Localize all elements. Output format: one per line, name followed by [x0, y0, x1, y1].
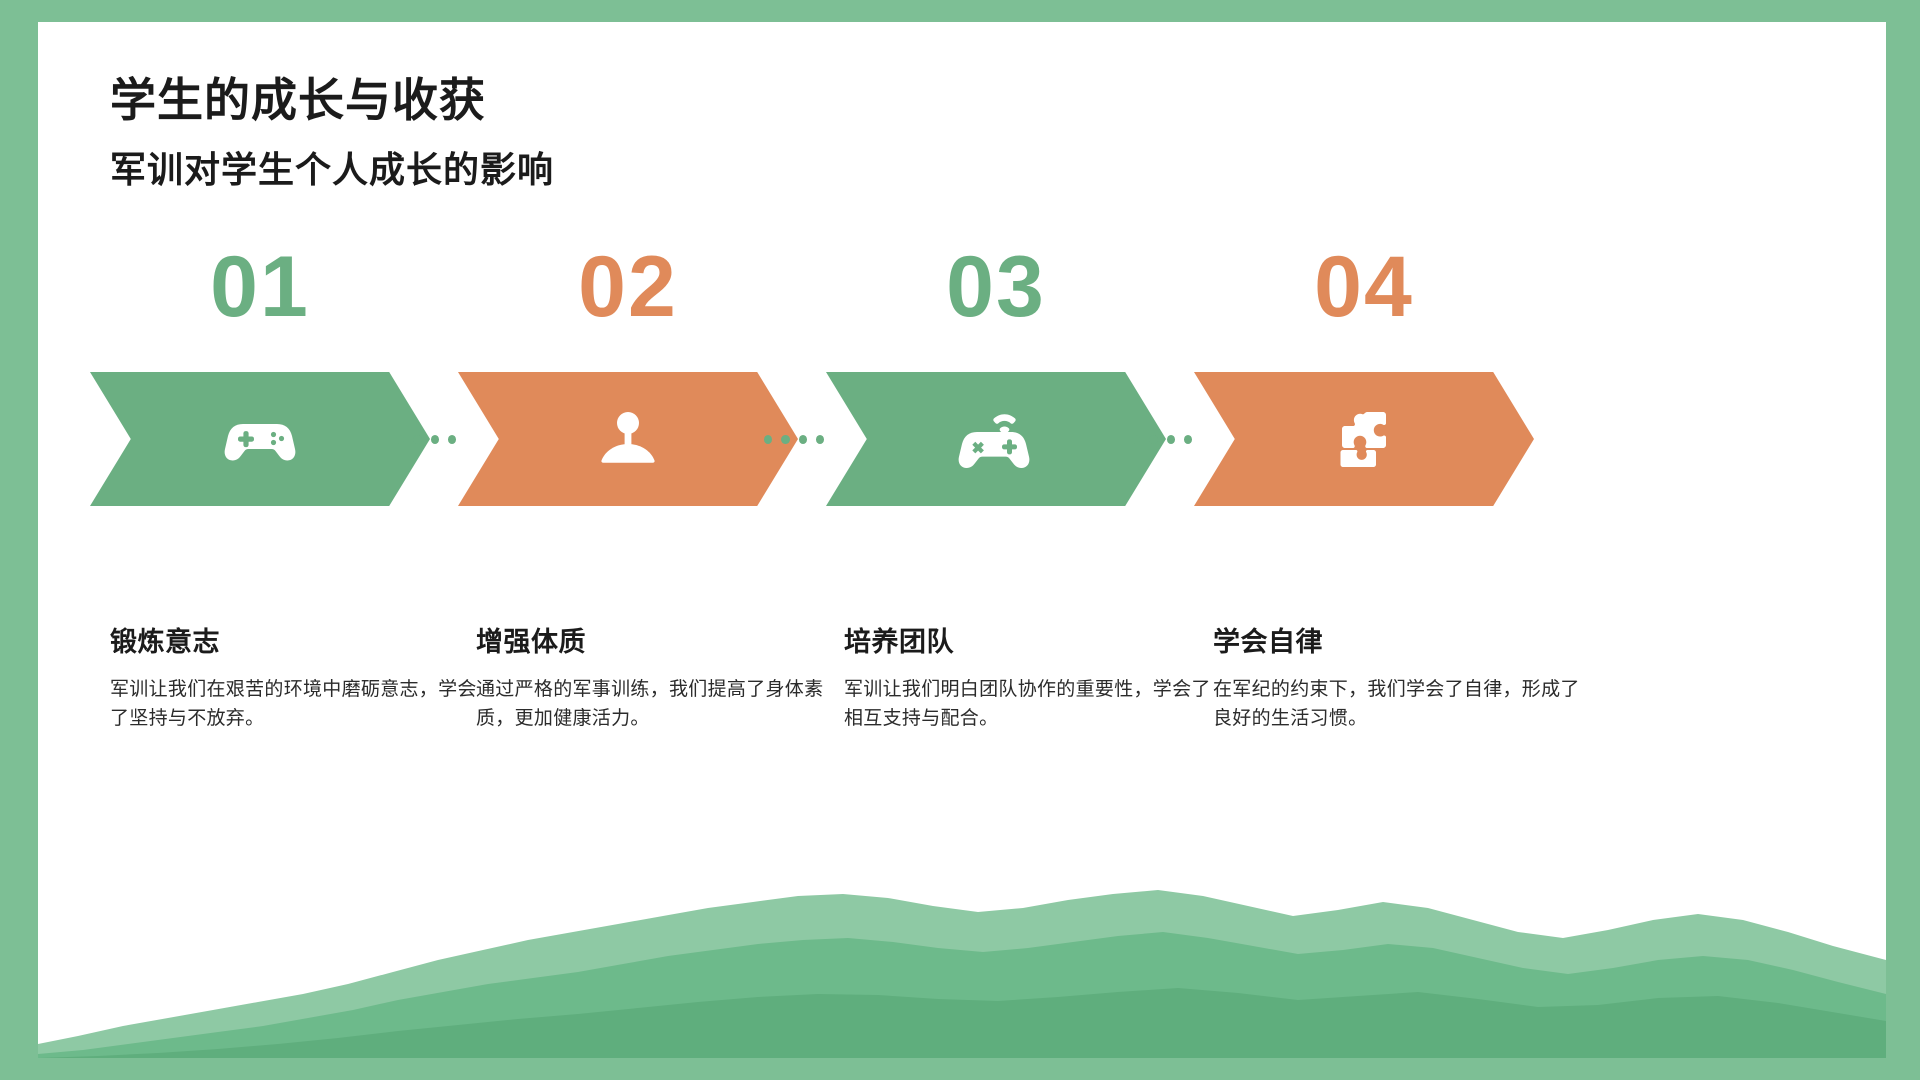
caption-description: 军训让我们在艰苦的环境中磨砺意志，学会了坚持与不放弃。 [110, 675, 480, 734]
connector-dot [1149, 435, 1157, 444]
connector-dot [431, 435, 439, 444]
connector-dot [396, 435, 404, 444]
slide-root: 学生的成长与收获 军训对学生个人成长的影响 01 [0, 0, 1920, 1080]
connector-dot [781, 435, 789, 444]
caption-description: 通过严格的军事训练，我们提高了身体素质，更加健康活力。 [476, 675, 846, 734]
caption-02: 增强体质 通过严格的军事训练，我们提高了身体素质，更加健康活力。 [476, 620, 846, 734]
chevron-shape [458, 372, 798, 506]
chevron-shape [90, 372, 430, 506]
step-number-02: 02 [508, 244, 748, 330]
caption-01: 锻炼意志 军训让我们在艰苦的环境中磨砺意志，学会了坚持与不放弃。 [110, 620, 480, 734]
connector-dot [799, 435, 807, 444]
header: 学生的成长与收获 军训对学生个人成长的影响 [110, 74, 554, 190]
step-chevron-03[interactable] [826, 372, 1166, 506]
step-number-01: 01 [140, 244, 380, 330]
connector-dots-2 [764, 372, 824, 506]
chevron-shape [826, 372, 1166, 506]
caption-description: 军训让我们明白团队协作的重要性，学会了相互支持与配合。 [844, 675, 1224, 734]
step-chevron-04[interactable] [1194, 372, 1534, 506]
caption-04: 学会自律 在军纪的约束下，我们学会了自律，形成了良好的生活习惯。 [1213, 620, 1583, 734]
caption-03: 培养团队 军训让我们明白团队协作的重要性，学会了相互支持与配合。 [844, 620, 1224, 734]
caption-title: 学会自律 [1213, 620, 1583, 659]
page-title: 学生的成长与收获 [110, 74, 554, 127]
step-chevron-01[interactable] [90, 372, 430, 506]
caption-title: 增强体质 [476, 620, 846, 659]
connector-dot [1167, 435, 1175, 444]
bottom-accent-strip [0, 1066, 1920, 1080]
connector-dots-3 [1132, 372, 1192, 506]
step-number-04: 04 [1244, 244, 1484, 330]
caption-title: 培养团队 [844, 620, 1224, 659]
chevron-shape [1194, 372, 1534, 506]
step-number-03: 03 [876, 244, 1116, 330]
connector-dot [1184, 435, 1192, 444]
connector-dot [764, 435, 772, 444]
caption-title: 锻炼意志 [110, 620, 480, 659]
step-chevron-02[interactable] [458, 372, 798, 506]
right-accent-strip [1904, 0, 1920, 1080]
connector-dot [413, 435, 421, 444]
connector-dots-1 [396, 372, 456, 506]
step-item-04[interactable]: 04 [1174, 244, 1554, 330]
steps-row: 01 [38, 244, 1886, 664]
mountain-silhouette [38, 868, 1886, 1058]
step-item-01[interactable]: 01 [70, 244, 450, 330]
connector-dot [448, 435, 456, 444]
connector-dot [1132, 435, 1140, 444]
step-item-02[interactable]: 02 [438, 244, 818, 330]
step-item-03[interactable]: 03 [806, 244, 1186, 330]
page-subtitle: 军训对学生个人成长的影响 [110, 149, 554, 190]
caption-description: 在军纪的约束下，我们学会了自律，形成了良好的生活习惯。 [1213, 675, 1583, 734]
connector-dot [816, 435, 824, 444]
slide-canvas: 学生的成长与收获 军训对学生个人成长的影响 01 [38, 22, 1886, 1058]
